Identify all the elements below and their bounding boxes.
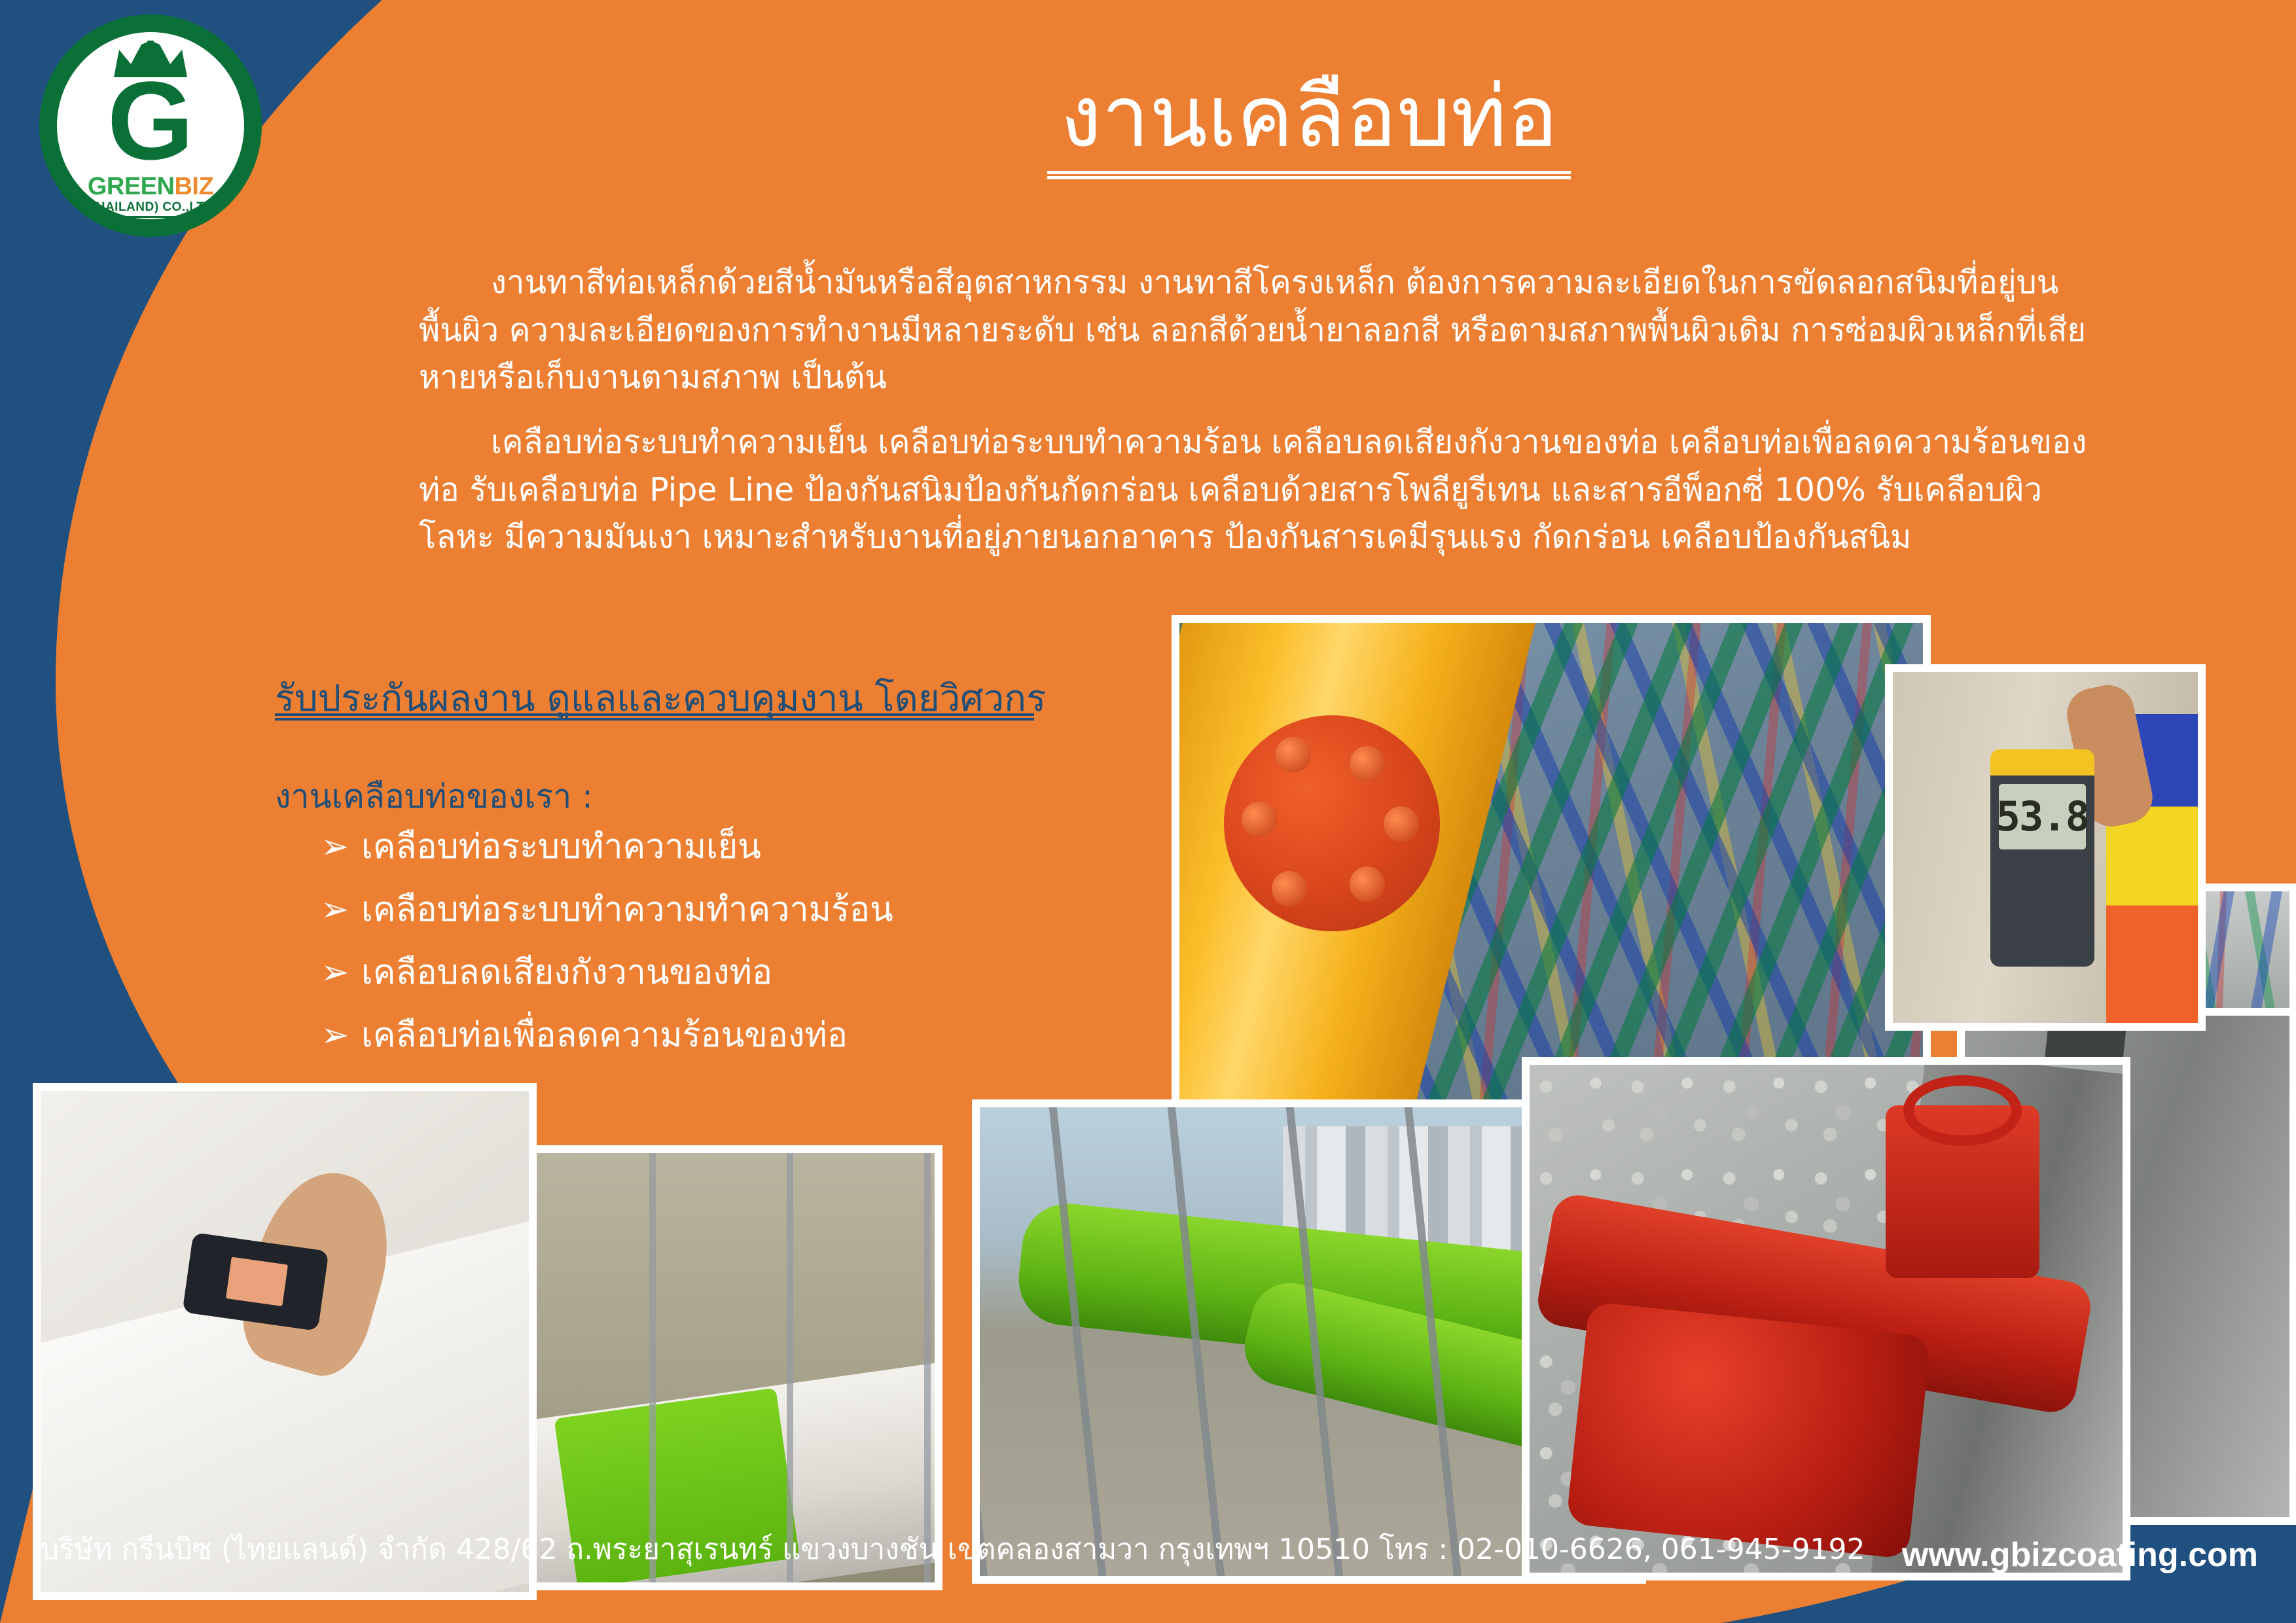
footer-website-url[interactable]: www.gbizcoating.com — [1902, 1535, 2258, 1575]
meter-reading-value: 53.8 — [1996, 793, 2089, 840]
arrow-bullet-icon: ➢ — [321, 893, 361, 927]
intro-paragraph-1: งานทาสีท่อเหล็กด้วยสีน้ำมันหรือสีอุตสาหก… — [419, 259, 2094, 402]
logo-subtitle: (THAILAND) CO.,LTD. — [39, 200, 262, 215]
guarantee-underline — [275, 713, 1034, 721]
page-title-block: งานเคลือบท่อ — [720, 72, 1898, 179]
list-item: ➢ เคลือบลดเสียงกังวานของท่อ — [321, 955, 893, 990]
coating-thickness-gauge-photo: การวัดความหนาสีเคลือบบนผิวท่อสีขาว — [33, 1083, 537, 1600]
thermometer-meter-photo: 53.8 เครื่องวัดอุณหภูมิแบบมือถือ — [1885, 664, 2206, 1031]
list-item: ➢ เคลือบท่อระบบทำความทำความร้อน — [321, 893, 893, 927]
services-list: ➢ เคลือบท่อระบบทำความเย็น ➢ เคลือบท่อระบ… — [321, 830, 893, 1081]
logo-letter: G — [39, 65, 262, 177]
page-title-underline — [1047, 171, 1571, 179]
logo-brand-orange: BIZ — [174, 173, 213, 200]
list-item-label: เคลือบลดเสียงกังวานของท่อ — [361, 955, 772, 990]
list-item: ➢ เคลือบท่อเพื่อลดความร้อนของท่อ — [321, 1018, 893, 1052]
list-item: ➢ เคลือบท่อระบบทำความเย็น — [321, 830, 893, 864]
page-title: งานเคลือบท่อ — [720, 72, 1898, 162]
logo-brand-name: GREENBIZ — [39, 173, 262, 201]
list-item-label: เคลือบท่อเพื่อลดความร้อนของท่อ — [361, 1018, 848, 1052]
logo-brand-green: GREEN — [88, 173, 175, 200]
footer-company-address: บริษัท กรีนบิซ (ไทยแลนด์) จำกัด 428/62 ถ… — [41, 1526, 1865, 1572]
services-label: งานเคลือบท่อของเรา : — [275, 771, 593, 823]
arrow-bullet-icon: ➢ — [321, 955, 361, 990]
arrow-bullet-icon: ➢ — [321, 830, 361, 864]
list-item-label: เคลือบท่อระบบทำความเย็น — [361, 830, 761, 864]
red-fire-valve-photo: วาล์วและท่อดับเพลิงทาสีแดง — [1522, 1057, 2130, 1580]
company-logo: G GREENBIZ (THAILAND) CO.,LTD. — [39, 14, 262, 237]
list-item-label: เคลือบท่อระบบทำความทำความร้อน — [361, 893, 893, 927]
intro-paragraph-2: เคลือบท่อระบบทำความเย็น เคลือบท่อระบบทำค… — [419, 419, 2094, 562]
logo-underline — [118, 216, 183, 218]
poster-canvas: G GREENBIZ (THAILAND) CO.,LTD. งานเคลือบ… — [0, 0, 2296, 1623]
arrow-bullet-icon: ➢ — [321, 1018, 361, 1052]
